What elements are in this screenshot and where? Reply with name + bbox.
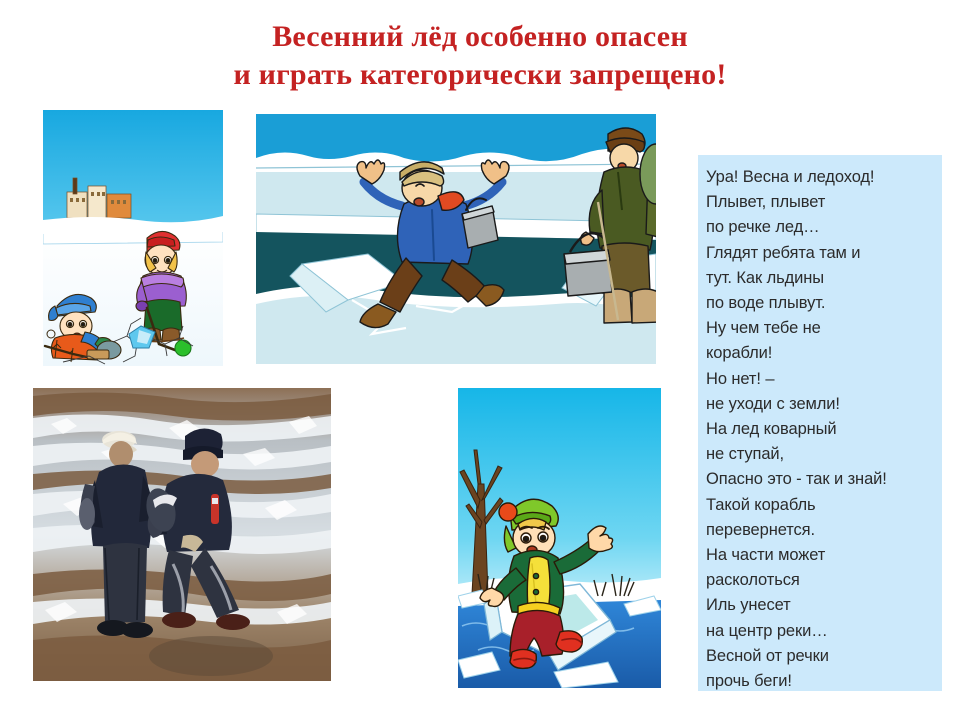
poem-panel: Ура! Весна и ледоход! Плывет, плывет по … xyxy=(698,155,942,691)
teenagers-on-melting-ice-photo xyxy=(33,388,331,681)
children-on-cracking-ice-illustration xyxy=(43,110,223,366)
boy-jumping-over-ice-crack-illustration xyxy=(256,114,656,364)
page-title-line-2: и играть категорически запрещено! xyxy=(0,56,960,94)
poster-canvas: Весенний лёд особенно опасен и играть ка… xyxy=(0,0,960,720)
page-title: Весенний лёд особенно опасен и играть ка… xyxy=(0,18,960,94)
child-on-ice-floe-illustration xyxy=(458,388,661,688)
poem-text: Ура! Весна и ледоход! Плывет, плывет по … xyxy=(706,165,934,694)
page-title-line-1: Весенний лёд особенно опасен xyxy=(0,18,960,56)
